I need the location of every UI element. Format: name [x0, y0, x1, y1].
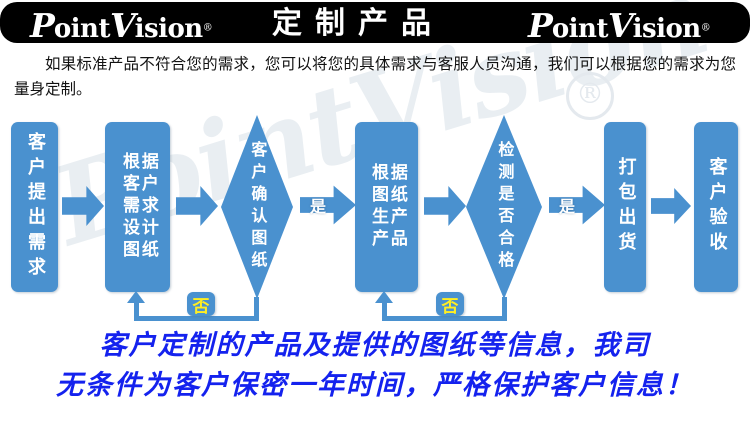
logo-left-p: P	[30, 6, 54, 45]
logo-left-ision: ision	[135, 14, 203, 44]
flow-decision-inspection: 检测是否合格	[466, 115, 542, 299]
flow-node-customer-acceptance: 客户验收	[694, 122, 738, 292]
logo-right-ision: ision	[633, 14, 701, 44]
flow-node-col: 根客需设图	[119, 152, 137, 262]
flow-node-design-drawing: 据户求计纸 根客需设图	[105, 122, 170, 292]
logo-right: PointVision®	[528, 6, 711, 45]
flow-node-text: 据户求计纸 根客需设图	[105, 122, 170, 292]
flow-node-col: 客户验收	[707, 157, 726, 257]
flow-node-col: 客户提出需求	[25, 132, 44, 282]
flow-node-text: 客户验收	[694, 122, 738, 292]
logo-right-oint: oint	[552, 14, 608, 44]
feedback-line-2-horizontal	[382, 316, 507, 321]
flowchart: 客户提出需求 据户求计纸 根客需设图 客户确认图纸 是 据纸产品	[0, 112, 750, 320]
footer-line-2: 无条件为客户保密一年时间，严格保护客户信息！	[0, 366, 750, 406]
flow-node-col: 据户求计纸	[138, 152, 156, 262]
feedback-line-1-up	[134, 302, 139, 321]
logo-left-registered-icon: ®	[203, 23, 213, 34]
flow-arrow-4	[651, 188, 691, 224]
feedback-line-2-up	[382, 302, 387, 321]
flow-node-text: 据纸产品 根图生产	[355, 122, 418, 292]
logo-right-registered-icon: ®	[701, 23, 711, 34]
flow-node-produce: 据纸产品 根图生产	[355, 122, 418, 292]
flow-node-col: 根图生产	[368, 163, 386, 251]
flow-node-col: 检测是否合格	[496, 141, 513, 273]
flow-node-col: 客户确认图纸	[249, 141, 266, 273]
flow-arrow-yes-1-label: 是	[300, 182, 336, 228]
footer-line-1: 客户定制的产品及提供的图纸等信息，我司	[0, 326, 750, 366]
feedback-arrowhead-1	[127, 291, 145, 303]
page-title: 定制产品	[272, 5, 444, 43]
flow-arrow-1	[62, 186, 104, 226]
footer-statement: 客户定制的产品及提供的图纸等信息，我司 无条件为客户保密一年时间，严格保护客户信…	[0, 326, 750, 406]
logo-left-oint: oint	[54, 14, 110, 44]
feedback-arrowhead-2	[375, 291, 393, 303]
flow-node-text: 客户确认图纸	[221, 115, 293, 299]
logo-left-v: V	[110, 6, 135, 45]
flow-decision-confirm-drawing: 客户确认图纸	[221, 115, 293, 299]
flow-node-text: 检测是否合格	[466, 115, 542, 299]
flow-node-col: 据纸产品	[387, 163, 405, 251]
flow-label-no-2: 否	[436, 292, 464, 316]
flow-arrow-2	[176, 186, 218, 226]
page-root: PointVision ® PointVision® 定制产品 PointVis…	[0, 0, 750, 423]
flow-node-col: 打包出货	[616, 157, 635, 257]
intro-paragraph: 如果标准产品不符合您的需求，您可以将您的具体需求与客服人员沟通，我们可以根据您的…	[14, 52, 736, 102]
logo-right-p: P	[528, 6, 552, 45]
logo-right-v: V	[608, 6, 633, 45]
flow-node-customer-request: 客户提出需求	[11, 122, 58, 292]
logo-left: PointVision®	[30, 6, 213, 45]
header-bar: PointVision® 定制产品 PointVision®	[0, 2, 750, 43]
flow-arrow-yes-2-label: 是	[549, 182, 585, 228]
flow-arrow-3	[424, 186, 466, 226]
feedback-line-1-horizontal	[134, 316, 259, 321]
flow-label-no-1: 否	[187, 292, 215, 316]
flow-node-text: 打包出货	[604, 122, 646, 292]
flow-node-text: 客户提出需求	[11, 122, 58, 292]
flow-node-package-ship: 打包出货	[604, 122, 646, 292]
